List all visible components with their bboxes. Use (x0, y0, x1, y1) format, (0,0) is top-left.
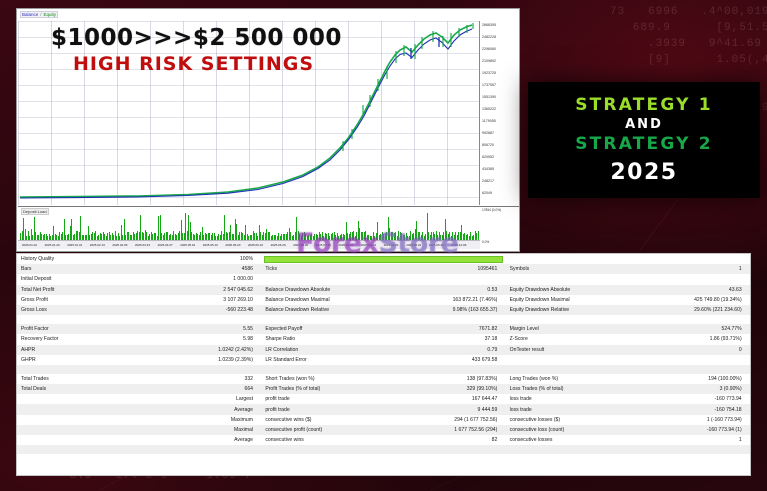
cell-value: 163 872.21 (7.46%) (381, 297, 501, 303)
table-row[interactable]: Total Trades332Short Trades (won %)138 (… (17, 374, 750, 384)
x-tick: 2025.07.14 (316, 243, 331, 247)
cell-value: Maximum (137, 417, 257, 423)
strategy-line-1: STRATEGY 1 (575, 95, 713, 115)
cell-value: Average (137, 407, 257, 413)
x-tick: 2025.01.20 (45, 243, 60, 247)
cell-label: Gross Loss (17, 307, 137, 313)
cell-value: 664 (137, 386, 257, 392)
cell-value: 0.53 (381, 287, 501, 293)
cell-value: 29.60% (221 234.60) (626, 307, 746, 313)
cell-label: consecutive losses ($) (506, 417, 626, 423)
y-tick: 1737557 (482, 83, 496, 87)
cell-value: 1.0239 (2.39%) (137, 357, 257, 363)
cell-label: Profit Trades (% of total) (261, 386, 381, 392)
cell-value: -160 773.94 (626, 396, 746, 402)
cell-label: Balance Drawdown Maximal (261, 297, 381, 303)
cell-value: 194 (100.00%) (626, 376, 746, 382)
cell-value: 5.55 (137, 326, 257, 332)
strategy-line-2: STRATEGY 2 (575, 134, 713, 154)
strategy-and-label: AND (625, 117, 663, 132)
table-row[interactable]: Maximumconsecutive wins ($)294 (1 677 75… (17, 415, 750, 425)
cell-label: GHPR (17, 357, 137, 363)
deposit-scale-top: 17854 (0.0%) (482, 208, 501, 212)
cell-label (17, 396, 137, 402)
cell-label: LR Correlation (261, 347, 381, 353)
y-tick: 2668395 (482, 23, 496, 27)
x-tick: 2025.08.20 (293, 243, 308, 247)
cell-label: Balance Drawdown Absolute (261, 287, 381, 293)
cell-value: 167 644.47 (381, 396, 501, 402)
deposit-load-subchart[interactable]: Deposit Load 2025.01.022025.01.202025.01… (18, 206, 480, 249)
y-tick: 62049 (482, 191, 492, 195)
y-tick: 1551390 (482, 95, 496, 99)
table-row[interactable]: Initial Deposit1 000.00 (17, 274, 750, 284)
x-tick: 2025.05.10 (203, 243, 218, 247)
cell-value: 3 107 269.10 (137, 297, 257, 303)
overlay-title: $1000>>>$2 500 000 (51, 25, 342, 51)
table-spacer-row (17, 454, 750, 463)
cell-label (17, 427, 137, 433)
cell-label: profit trade (261, 396, 381, 402)
table-row[interactable]: Averageconsecutive wins82consecutive los… (17, 435, 750, 445)
cell-label: Bars (17, 266, 137, 272)
cell-label: Long Trades (won %) (506, 376, 626, 382)
cell-value: 294 (1 677 752.56) (381, 417, 501, 423)
cell-label: Profit Factor (17, 326, 137, 332)
cell-value: 138 (97.83%) (381, 376, 501, 382)
overlay-subtitle: HIGH RISK SETTINGS (73, 53, 314, 75)
top-section: Balance / Equity (0, 0, 767, 252)
x-tick: 2025.05.20 (225, 243, 240, 247)
cell-value: -160 754.18 (626, 407, 746, 413)
table-spacer-row (17, 445, 750, 454)
cell-label: Margin Level (506, 326, 626, 332)
deposit-load-label: Deposit Load (21, 208, 49, 215)
x-tick: 2025.05.01 (180, 243, 195, 247)
chart-legend: Balance / Equity (20, 11, 58, 18)
cell-value: Largest (137, 396, 257, 402)
strategy-tester-graph[interactable]: Balance / Equity (16, 8, 520, 252)
cell-value: 43.63 (626, 287, 746, 293)
y-tick: 2109892 (482, 59, 496, 63)
cell-value: -160 773.94 (1) (626, 427, 746, 433)
cell-label: Total Deals (17, 386, 137, 392)
cell-value: 0 (626, 347, 746, 353)
cell-value: Maximal (137, 427, 257, 433)
cell-value: 1 (626, 437, 746, 443)
chart-x-axis: 2025.01.022025.01.202025.01.312025.02.13… (18, 240, 480, 249)
cell-label: Balance Drawdown Relative (261, 307, 381, 313)
cell-value: 433 679.58 (381, 357, 501, 363)
cell-value: 2 547 045.62 (137, 287, 257, 293)
cell-label (17, 417, 137, 423)
cell-label: consecutive wins ($) (261, 417, 381, 423)
cell-label: Gross Profit (17, 297, 137, 303)
cell-label: Equity Drawdown Maximal (506, 297, 626, 303)
cell-value: 4586 (137, 266, 257, 272)
x-tick: 2025.01.31 (67, 243, 82, 247)
cell-value: 37.18 (381, 336, 501, 342)
cell-label: Expected Payoff (261, 326, 381, 332)
cell-label: loss trade (506, 407, 626, 413)
cell-value: 100% (137, 256, 257, 262)
y-tick: 434385 (482, 167, 494, 171)
cell-value: 9 444.59 (381, 407, 501, 413)
cell-label: Symbols (506, 266, 626, 272)
cell-label: Initial Deposit (17, 276, 137, 282)
table-row[interactable]: Total Deals664Profit Trades (% of total)… (17, 384, 750, 394)
cell-value: Average (137, 437, 257, 443)
x-tick: 2025.04.04 (361, 243, 376, 247)
table-row[interactable]: Total Net Profit2 547 045.62Balance Draw… (17, 285, 750, 295)
table-row[interactable]: Gross Loss-560 223.48Balance Drawdown Re… (17, 305, 750, 315)
cell-value: 425 749.80 (19.34%) (626, 297, 746, 303)
y-tick: 1365222 (482, 107, 496, 111)
cell-value: 1 000.00 (137, 276, 257, 282)
cell-value: 1 (626, 266, 746, 272)
cell-label: loss trade (506, 396, 626, 402)
cell-value: 7671.82 (381, 326, 501, 332)
cell-label: Recovery Factor (17, 336, 137, 342)
cell-value: 1 (-160 773.94) (626, 417, 746, 423)
cell-value: 82 (381, 437, 501, 443)
cell-value: 332 (137, 376, 257, 382)
legend-balance: Balance (22, 12, 38, 17)
cell-value: 329 (99.10%) (381, 386, 501, 392)
x-tick: 2025.06.10 (248, 243, 263, 247)
table-row[interactable]: Profit Factor5.55Expected Payoff7671.82M… (17, 324, 750, 334)
y-tick: 1179055 (482, 119, 496, 123)
cell-label: History Quality (17, 256, 137, 262)
deposit-load-bars (18, 212, 480, 240)
cell-label: LR Standard Error (261, 357, 381, 363)
y-tick: 2482228 (482, 35, 496, 39)
cell-label: Equity Drawdown Relative (506, 307, 626, 313)
y-tick: 806720 (482, 143, 494, 147)
cell-value: -560 223.48 (137, 307, 257, 313)
y-tick: 620552 (482, 155, 494, 159)
y-tick: 2296060 (482, 47, 496, 51)
table-row[interactable]: Recovery Factor5.98Sharpe Ratio37.18Z-Sc… (17, 334, 750, 344)
cell-label: consecutive profit (count) (261, 427, 381, 433)
x-tick: 2025.02.13 (90, 243, 105, 247)
x-tick: 2025.04.21 (338, 243, 353, 247)
x-tick: 2025.05.23 (429, 243, 444, 247)
cell-value: 0.79 (381, 347, 501, 353)
cell-value: 3 (0.90%) (626, 386, 746, 392)
cell-value: 9.98% (163 655.37) (381, 307, 501, 313)
x-tick: 2025.08.22 (406, 243, 421, 247)
cell-label (17, 437, 137, 443)
chart-y-axis: 2668395 2482228 2296060 2109892 1923725 … (480, 21, 520, 205)
strategy-year: 2025 (610, 160, 677, 185)
cell-label: Sharpe Ratio (261, 336, 381, 342)
legend-equity: Equity (44, 12, 57, 17)
cell-label: profit trade (261, 407, 381, 413)
cell-label: consecutive wins (261, 437, 381, 443)
cell-label: Total Trades (17, 376, 137, 382)
table-row[interactable]: AHPR1.0242 (2.42%)LR Correlation0.79OnTe… (17, 345, 750, 355)
cell-value: 5.98 (137, 336, 257, 342)
table-spacer-row (17, 365, 750, 374)
cell-label: Ticks (261, 266, 381, 272)
table-row[interactable]: GHPR1.0239 (2.39%)LR Standard Error433 6… (17, 355, 750, 365)
cell-value: 1.86 (93.71%) (626, 336, 746, 342)
deposit-load-scale: 17854 (0.0%) 0.0% (480, 206, 520, 249)
cell-label: consecutive loss (count) (506, 427, 626, 433)
cell-label: Total Net Profit (17, 287, 137, 293)
deposit-scale-bottom: 0.0% (482, 240, 489, 244)
strategy-banner: STRATEGY 1 AND STRATEGY 2 2025 (528, 82, 760, 198)
y-tick: 248217 (482, 179, 494, 183)
cell-label: Short Trades (won %) (261, 376, 381, 382)
x-tick: 2025.03.23 (135, 243, 150, 247)
x-tick: 2025.09.01 (384, 243, 399, 247)
x-tick: 2025.01.02 (22, 243, 37, 247)
table-spacer-row (17, 315, 750, 324)
cell-label: consecutive losses (506, 437, 626, 443)
cell-value: 1.0242 (2.42%) (137, 347, 257, 353)
y-tick: 1923725 (482, 71, 496, 75)
table-row[interactable]: Averageprofit trade9 444.59loss trade-16… (17, 404, 750, 414)
cell-label: AHPR (17, 347, 137, 353)
table-row[interactable]: Gross Profit3 107 269.10Balance Drawdown… (17, 295, 750, 305)
cell-value: 1095461 (381, 266, 501, 272)
cell-value: 524.77% (626, 326, 746, 332)
x-tick: 2025.02.05 (112, 243, 127, 247)
cell-label: Z-Score (506, 336, 626, 342)
table-row[interactable]: Bars4586Ticks1095461Symbols1 (17, 264, 750, 274)
cell-label (17, 407, 137, 413)
x-tick: 2025.06.29 (271, 243, 286, 247)
table-row[interactable]: Maximalconsecutive profit (count)1 677 7… (17, 425, 750, 435)
table-row[interactable]: Largestprofit trade167 644.47loss trade-… (17, 394, 750, 404)
cell-value: 1 677 752.56 (294) (381, 427, 501, 433)
x-tick: 2025.04.07 (158, 243, 173, 247)
cell-label: Loss Trades (% of total) (506, 386, 626, 392)
legend-separator: / (40, 12, 41, 17)
x-tick: 2025.10.06 (451, 243, 466, 247)
history-quality-bar (264, 256, 502, 263)
backtest-report-table[interactable]: History Quality100%Bars4586Ticks1095461S… (16, 253, 751, 476)
cell-label: Equity Drawdown Absolute (506, 287, 626, 293)
y-tick: 992887 (482, 131, 494, 135)
cell-label: OnTester result (506, 347, 626, 353)
table-row[interactable]: History Quality100% (17, 254, 750, 264)
